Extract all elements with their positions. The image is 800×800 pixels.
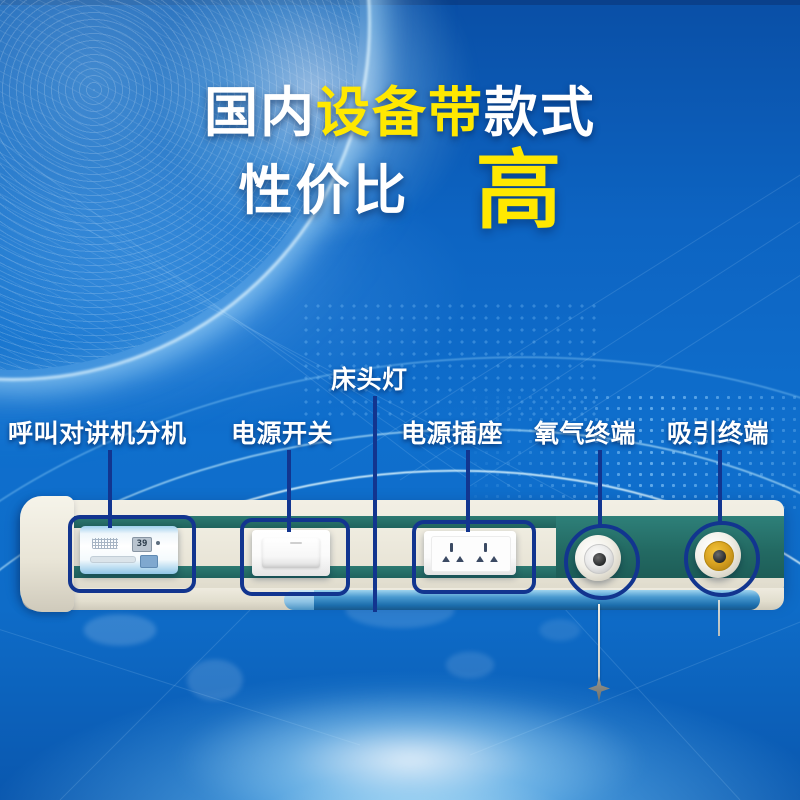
socket-pin-icon: [476, 556, 484, 562]
leader-line-bedside-lamp: [373, 396, 377, 612]
socket-pin-icon: [450, 543, 453, 552]
socket-pin-icon: [490, 556, 498, 562]
speaker-grille-icon: [92, 538, 118, 549]
terminal-core-icon: [593, 553, 606, 566]
panel-blue-rail: [298, 590, 760, 610]
panel-left-end-cap: [20, 496, 74, 612]
callout-label-power-socket: 电源插座: [401, 414, 503, 450]
oxygen-terminal-outlet[interactable]: [575, 535, 621, 581]
callout-label-oxygen-terminal: 氧气终端: [534, 414, 636, 450]
callout-label-nurse-call-intercom: 呼叫对讲机分机: [8, 414, 187, 450]
intercom-call-button[interactable]: [140, 555, 158, 568]
indicator-led-icon: [156, 541, 160, 545]
socket-pin-icon: [484, 543, 487, 552]
headline-emphasis-char: 高: [476, 148, 562, 234]
panel-blue-rail-cap: [284, 590, 314, 610]
socket-face: [431, 536, 511, 572]
power-socket-unit[interactable]: [424, 531, 516, 575]
switch-mark: [290, 542, 302, 544]
headline-part-1: 国内: [204, 81, 316, 144]
promo-image-canvas: 国内设备带款式 性价比 高 呼叫对讲机分机 电源开关 床头灯 电源插座 氧气终端…: [0, 0, 800, 800]
callout-label-bedside-lamp: 床头灯: [331, 360, 408, 396]
headline-part-2: 设备带: [316, 81, 484, 144]
leader-line-oxygen: [598, 450, 602, 526]
leader-line-power-socket: [466, 450, 470, 532]
suction-terminal-outlet[interactable]: [695, 532, 741, 578]
leader-line-suction: [718, 450, 722, 524]
terminal-core-icon: [713, 550, 726, 563]
callout-label-suction-terminal: 吸引终端: [667, 414, 769, 450]
headline-part-3: 款式: [484, 81, 596, 144]
pull-cord[interactable]: [598, 604, 600, 682]
headline-line-1: 国内设备带款式: [0, 86, 800, 140]
intercom-slot: [90, 556, 136, 563]
terminal-inner: [584, 544, 614, 574]
headline-line-2: 性价比 高: [0, 148, 800, 234]
halftone-dots-right: [470, 392, 800, 512]
leader-line-nurse-call: [108, 450, 112, 528]
power-switch-unit[interactable]: [252, 530, 330, 576]
pull-cord-secondary[interactable]: [718, 600, 720, 636]
intercom-display: 39: [132, 537, 152, 552]
headline-value-text: 性价比: [239, 164, 410, 218]
callout-label-power-switch: 电源开关: [231, 414, 333, 450]
terminal-inner: [704, 541, 734, 571]
socket-pin-icon: [442, 556, 450, 562]
socket-pin-icon: [456, 556, 464, 562]
leader-line-power-switch: [287, 450, 291, 532]
nurse-call-intercom-unit[interactable]: 39: [80, 526, 178, 574]
